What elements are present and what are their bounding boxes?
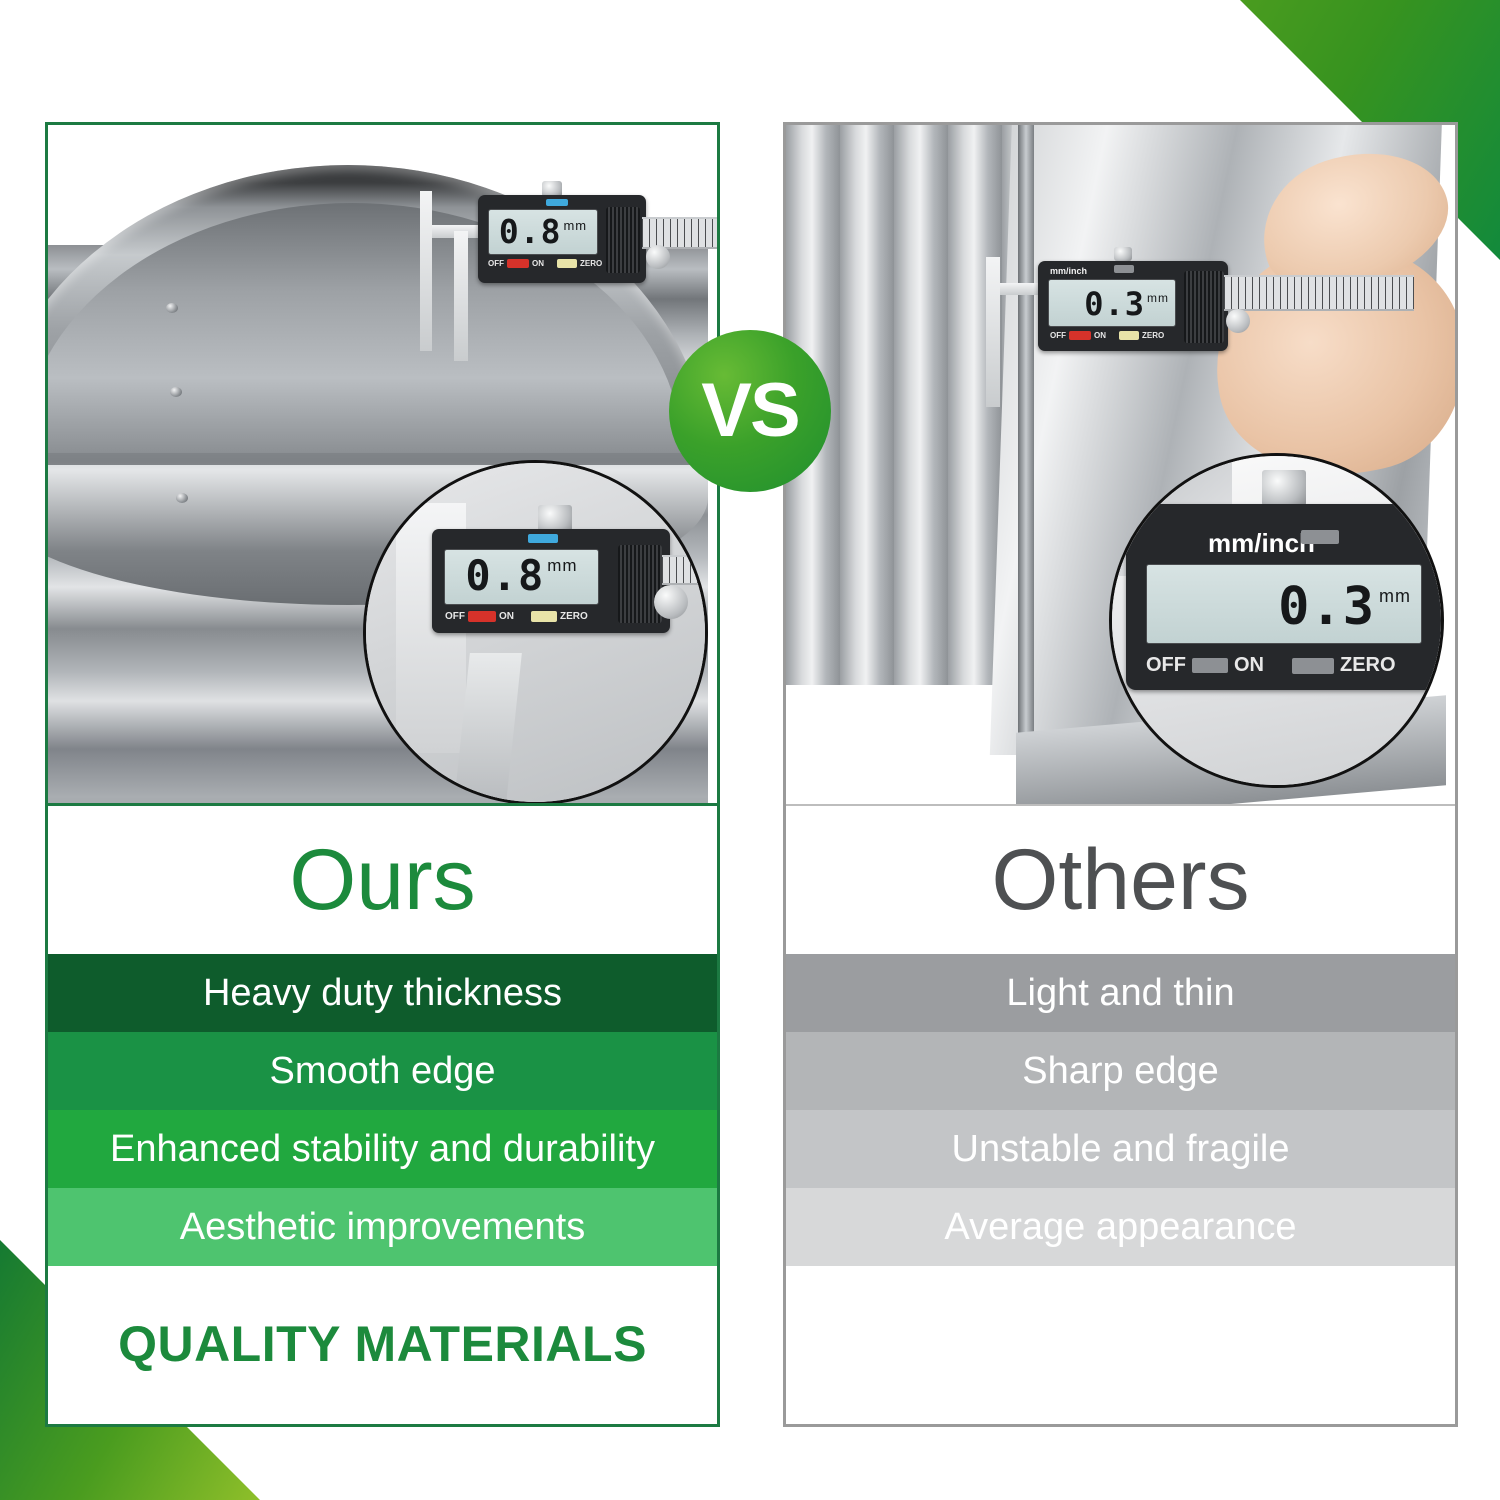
caliper-zero-label-others: ZERO xyxy=(1142,331,1164,340)
vs-badge: VS xyxy=(669,330,831,492)
quality-materials-label: QUALITY MATERIALS xyxy=(118,1315,647,1373)
feature-row-others-4: Average appearance xyxy=(786,1188,1455,1266)
title-box-others: Others xyxy=(786,806,1455,954)
caliper-off-label-ours: OFF xyxy=(488,259,504,268)
magnifier-unit-ours: mm xyxy=(547,556,577,576)
caliper-scale-others xyxy=(1224,275,1414,311)
magnifier-reading-ours: 0.8 xyxy=(465,551,544,600)
feature-list-others: Others Light and thin Sharp edge Unstabl… xyxy=(786,806,1455,1421)
power-switch-icon xyxy=(468,611,496,622)
magnifier-inset-others: mm/inch 0.3 mm OFF ON ZERO xyxy=(1109,453,1444,788)
caliper-reading-ours: 0.8 xyxy=(499,212,562,251)
feature-row-ours-3: Enhanced stability and durability xyxy=(48,1110,717,1188)
feature-label: Sharp edge xyxy=(1022,1050,1219,1093)
infographic-canvas: 0.8 mm OFF ON ZERO xyxy=(0,0,1500,1500)
feature-row-ours-4: Aesthetic improvements xyxy=(48,1188,717,1266)
caliper-scale-ours xyxy=(642,217,717,249)
caliper-on-label-others: ON xyxy=(1094,331,1106,340)
product-photo-ours: 0.8 mm OFF ON ZERO xyxy=(48,125,717,806)
page-title-ours: Ours xyxy=(289,837,475,923)
magnifier-on-label-ours: ON xyxy=(499,611,514,622)
power-switch-icon xyxy=(507,259,529,268)
page-title-others: Others xyxy=(991,837,1249,923)
footer-box-others xyxy=(786,1266,1455,1421)
caliper-mode-label-others: mm/inch xyxy=(1050,266,1087,276)
feature-row-ours-2: Smooth edge xyxy=(48,1032,717,1110)
feature-label: Unstable and fragile xyxy=(952,1128,1290,1171)
caliper-others: mm/inch 0.3 mm OFF ON ZERO xyxy=(986,253,1406,373)
zero-button-icon xyxy=(531,611,557,622)
feature-row-others-3: Unstable and fragile xyxy=(786,1110,1455,1188)
panel-ours: 0.8 mm OFF ON ZERO xyxy=(45,122,720,1427)
power-switch-icon xyxy=(1192,658,1228,673)
feature-label: Average appearance xyxy=(944,1206,1296,1249)
caliper-off-label-others: OFF xyxy=(1050,331,1066,340)
zero-button-icon xyxy=(1119,331,1139,340)
magnifier-on-label-others: ON xyxy=(1234,654,1264,677)
feature-label: Aesthetic improvements xyxy=(180,1206,586,1249)
vs-label: VS xyxy=(701,373,798,449)
feature-list-ours: Ours Heavy duty thickness Smooth edge En… xyxy=(48,806,717,1421)
feature-row-others-1: Light and thin xyxy=(786,954,1455,1032)
magnifier-zero-label-others: ZERO xyxy=(1340,654,1396,677)
magnifier-inset-ours: 0.8 mm OFF ON ZERO xyxy=(363,460,708,805)
footer-box-ours: QUALITY MATERIALS xyxy=(48,1266,717,1421)
product-photo-others: mm/inch 0.3 mm OFF ON ZERO xyxy=(786,125,1455,806)
magnifier-zero-label-ours: ZERO xyxy=(560,611,588,622)
caliper-zero-label-ours: ZERO xyxy=(580,259,602,268)
feature-row-ours-1: Heavy duty thickness xyxy=(48,954,717,1032)
caliper-reading-others: 0.3 xyxy=(1084,285,1145,323)
zero-button-icon xyxy=(557,259,577,268)
magnifier-mode-label-others: mm/inch xyxy=(1208,528,1315,559)
zero-button-icon xyxy=(1292,658,1334,674)
feature-label: Enhanced stability and durability xyxy=(110,1128,655,1171)
magnifier-off-label-others: OFF xyxy=(1146,654,1186,677)
magnifier-unit-others: mm xyxy=(1379,586,1411,607)
feature-row-others-2: Sharp edge xyxy=(786,1032,1455,1110)
feature-label: Heavy duty thickness xyxy=(203,972,562,1015)
caliper-unit-ours: mm xyxy=(563,218,587,233)
feature-label: Smooth edge xyxy=(269,1050,495,1093)
caliper-ours: 0.8 mm OFF ON ZERO xyxy=(420,181,710,311)
caliper-unit-others: mm xyxy=(1147,291,1169,305)
title-box-ours: Ours xyxy=(48,806,717,954)
magnifier-off-label-ours: OFF xyxy=(445,611,465,622)
panel-others: mm/inch 0.3 mm OFF ON ZERO xyxy=(783,122,1458,1427)
magnifier-reading-others: 0.3 xyxy=(1278,577,1375,637)
power-switch-icon xyxy=(1069,331,1091,340)
feature-label: Light and thin xyxy=(1006,972,1234,1015)
caliper-on-label-ours: ON xyxy=(532,259,544,268)
